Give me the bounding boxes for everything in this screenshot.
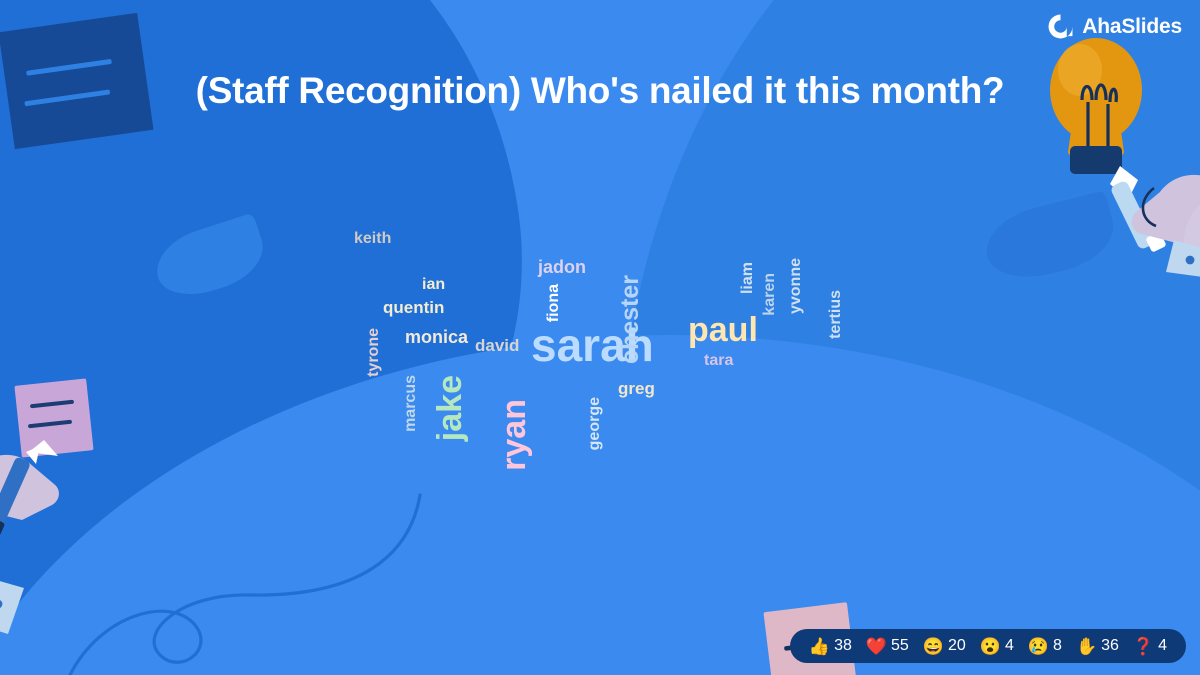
word-cloud-item: keith (354, 231, 391, 247)
thumbs-up-icon: 👍 (809, 638, 830, 655)
reaction-count: 4 (1158, 637, 1167, 655)
word-cloud-item: liam (740, 262, 756, 294)
reaction-count: 36 (1101, 637, 1119, 655)
word-cloud-item: ryan (497, 399, 531, 471)
laughing-face-icon: 😄 (923, 638, 944, 655)
word-cloud-item: jake (433, 375, 467, 441)
word-cloud-item: yvonne (788, 258, 804, 314)
sad-reaction[interactable]: 😢8 (1021, 637, 1069, 655)
squiggle-line-decoration (60, 475, 480, 675)
word-cloud-item: david (475, 337, 519, 354)
question-mark-icon: ❓ (1133, 638, 1154, 655)
raised-hand-icon: ✋ (1076, 638, 1097, 655)
word-cloud-item: chester (618, 275, 643, 364)
word-cloud-item: karen (762, 273, 778, 316)
word-cloud-item: jadon (538, 258, 586, 276)
word-cloud-item: tara (704, 353, 733, 369)
teardrop-shape-left (148, 213, 272, 306)
laugh-reaction[interactable]: 😄20 (916, 637, 973, 655)
heart-reaction[interactable]: ❤️55 (859, 637, 916, 655)
logo-wordmark: AhaSlides (1082, 15, 1182, 39)
teardrop-shape-right (979, 190, 1122, 287)
ahaslides-logo: AhaSlides (1047, 13, 1182, 40)
reactions-bar[interactable]: 👍38❤️55😄20😮4😢8✋36❓4 (790, 629, 1186, 663)
question-reaction[interactable]: ❓4 (1126, 637, 1174, 655)
word-cloud-item: quentin (383, 299, 444, 316)
word-cloud-item: monica (405, 328, 468, 346)
sad-face-icon: 😢 (1028, 638, 1049, 655)
ahaslides-logo-icon (1047, 13, 1074, 40)
word-cloud-item: ian (422, 277, 445, 293)
word-cloud-item: tyrone (366, 328, 382, 377)
lightbulb-with-hand-illustration-right (1020, 28, 1200, 278)
surprised-reaction[interactable]: 😮4 (973, 637, 1021, 655)
reaction-count: 55 (891, 637, 909, 655)
word-cloud-item: paul (688, 313, 758, 347)
reaction-count: 8 (1053, 637, 1062, 655)
word-cloud-item: george (587, 397, 603, 450)
thumbs-up-reaction[interactable]: 👍38 (802, 637, 859, 655)
hand-with-pen-illustration-left (0, 360, 222, 675)
reaction-count: 4 (1005, 637, 1014, 655)
presentation-slide: AhaSlides (Staff Recognition) Who's nail… (0, 0, 1200, 675)
word-cloud-item: greg (618, 380, 655, 397)
word-cloud-item: fiona (546, 284, 562, 322)
word-cloud-item: marcus (403, 375, 419, 432)
slide-title: (Staff Recognition) Who's nailed it this… (0, 68, 1200, 114)
word-cloud: sarahpauljakeryanchesterjadonmonicaquent… (330, 200, 870, 490)
heart-icon: ❤️ (866, 638, 887, 655)
raise-hand-reaction[interactable]: ✋36 (1069, 637, 1126, 655)
surprised-face-icon: 😮 (980, 638, 1001, 655)
reaction-count: 38 (834, 637, 852, 655)
reaction-count: 20 (948, 637, 966, 655)
word-cloud-item: tertius (828, 290, 844, 339)
